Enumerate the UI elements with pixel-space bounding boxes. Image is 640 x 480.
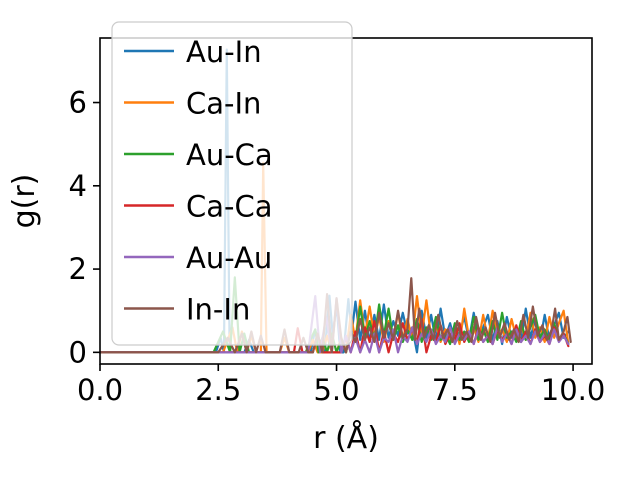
- legend-label-au-ca: Au-Ca: [186, 138, 273, 172]
- chart-legend[interactable]: Au-InCa-InAu-CaCa-CaAu-AuIn-In: [112, 22, 352, 345]
- y-axis-label: g(r): [7, 174, 42, 229]
- legend-label-ca-in: Ca-In: [186, 87, 261, 121]
- legend-label-ca-ca: Ca-Ca: [186, 190, 273, 224]
- x-axis-label: r (Å): [313, 420, 379, 456]
- x-tick-label-2: 5.0: [313, 373, 359, 407]
- x-tick-label-3: 7.5: [432, 373, 478, 407]
- y-tick-label-2: 4: [69, 169, 87, 203]
- x-tick-label-4: 10.0: [541, 373, 606, 407]
- legend-label-au-in: Au-In: [186, 35, 262, 69]
- legend-label-au-au: Au-Au: [186, 241, 272, 275]
- x-tick-label-1: 2.5: [195, 373, 241, 407]
- x-tick-label-0: 0.0: [77, 373, 123, 407]
- plot-canvas: 0.02.55.07.510.00246 Au-InCa-InAu-CaCa-C…: [0, 0, 640, 480]
- y-tick-label-3: 6: [69, 86, 87, 120]
- legend-label-in-in: In-In: [186, 293, 250, 327]
- y-tick-label-1: 2: [69, 252, 87, 286]
- rdf-chart-figure: 0.02.55.07.510.00246 Au-InCa-InAu-CaCa-C…: [0, 0, 640, 480]
- y-tick-label-0: 0: [69, 335, 87, 369]
